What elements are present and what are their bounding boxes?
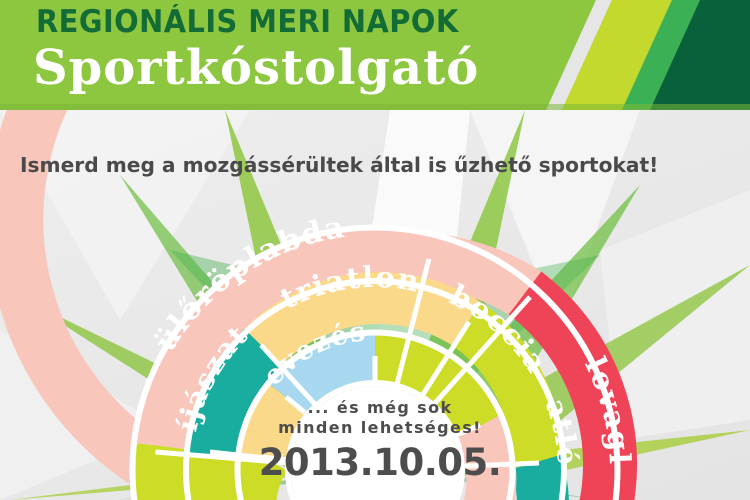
poster-tagline: Ismerd meg a mozgássérültek által is űzh… xyxy=(20,153,658,177)
poster-canvas: ülőröplabda lovaglás triatlon boccia íjá… xyxy=(0,0,750,500)
poster-title-main: REGIONÁLIS MERI NAPOK xyxy=(36,4,459,40)
wheel-center-text: ... és még sok minden lehetséges! 2013.1… xyxy=(255,398,505,484)
poster-header: REGIONÁLIS MERI NAPOK Sportkóstolgató xyxy=(0,0,750,110)
event-date: 2013.10.05. xyxy=(255,441,505,484)
poster-title-sub: Sportkóstolgató xyxy=(33,39,479,97)
center-line-2: minden lehetséges! xyxy=(255,418,505,438)
center-line-1: ... és még sok xyxy=(255,398,505,418)
